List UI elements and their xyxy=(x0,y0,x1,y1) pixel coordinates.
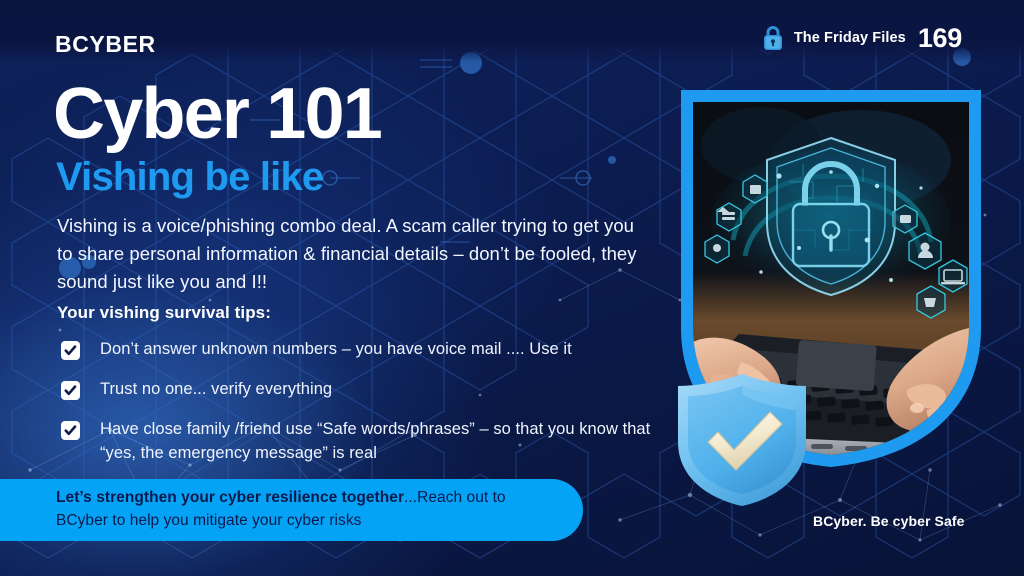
check-icon xyxy=(64,384,77,397)
tip-text: Trust no one... verify everything xyxy=(100,378,332,402)
page-subtitle: Vishing be like xyxy=(56,157,323,197)
lock-icon xyxy=(761,24,785,52)
footer-tagline: BCyber. Be cyber Safe xyxy=(813,513,965,529)
cta-banner[interactable]: Let’s strengthen your cyber resilience t… xyxy=(0,479,583,541)
intro-paragraph: Vishing is a voice/phishing combo deal. … xyxy=(57,212,647,296)
checkbox-checked[interactable] xyxy=(61,341,80,360)
friday-files-label: The Friday Files xyxy=(794,30,906,46)
cta-strong-text: Let’s strengthen your cyber resilience t… xyxy=(56,489,404,506)
friday-files-badge: The Friday Files 169 xyxy=(761,24,962,52)
bcyber-logo: BCYBER xyxy=(55,33,156,56)
tip-text: Don’t answer unknown numbers – you have … xyxy=(100,338,572,362)
issue-number: 169 xyxy=(918,25,962,52)
page-title: Cyber 101 xyxy=(53,78,381,150)
list-item: Have close family /friend use “Safe word… xyxy=(61,418,661,466)
poster-canvas: BCYBER The Friday Files 169 Cyber 101 Vi… xyxy=(0,0,1024,576)
list-item: Trust no one... verify everything xyxy=(61,378,661,402)
check-icon xyxy=(64,344,77,357)
tips-list: Don’t answer unknown numbers – you have … xyxy=(61,338,661,482)
check-icon xyxy=(64,424,77,437)
checkbox-checked[interactable] xyxy=(61,381,80,400)
tips-heading: Your vishing survival tips: xyxy=(57,303,271,323)
cta-text: Let’s strengthen your cyber resilience t… xyxy=(56,487,555,533)
list-item: Don’t answer unknown numbers – you have … xyxy=(61,338,661,362)
shield-check-badge xyxy=(672,370,812,508)
tip-text: Have close family /friend use “Safe word… xyxy=(100,418,661,466)
checkbox-checked[interactable] xyxy=(61,421,80,440)
